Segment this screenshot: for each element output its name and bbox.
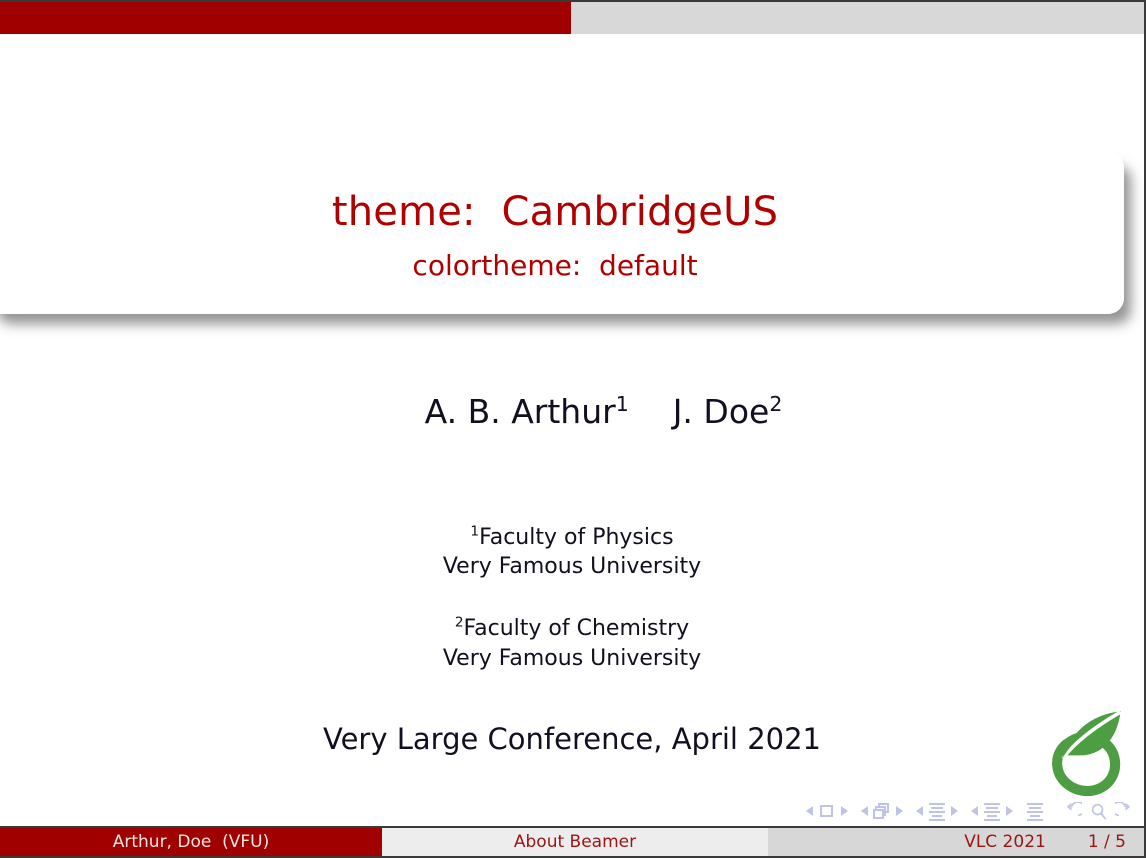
overleaf-logo (1036, 700, 1128, 796)
affiliation-1-institution: Very Famous University (0, 552, 1144, 582)
forward-icon[interactable] (1115, 802, 1134, 821)
affiliation-2: 2Faculty of Chemistry Very Famous Univer… (0, 614, 1144, 673)
footer-meta: VLC 2021 1 / 5 (768, 828, 1144, 856)
author-1-name: A. B. Arthur (425, 392, 616, 431)
beamer-slide: theme: CambridgeUS colortheme: default A… (0, 0, 1146, 858)
affiliation-2-mark: 2 (455, 615, 464, 631)
conference-date: Very Large Conference, April 2021 (0, 722, 1144, 756)
affiliation-2-department: Faculty of Chemistry (464, 616, 690, 641)
slide-navigation-group[interactable] (806, 803, 848, 819)
affiliation-2-department-line: 2Faculty of Chemistry (0, 614, 1144, 644)
affiliation-1-department-line: 1Faculty of Physics (0, 523, 1144, 553)
frame-deck-icon[interactable] (873, 803, 891, 819)
section-next-icon[interactable] (1006, 806, 1013, 816)
affiliation-2-institution: Very Famous University (0, 644, 1144, 674)
subsection-prev-icon[interactable] (916, 806, 923, 816)
slide-prev-icon[interactable] (806, 806, 813, 816)
frame-next-icon[interactable] (896, 806, 903, 816)
affiliation-1-mark: 1 (470, 523, 479, 539)
author-1-footnote-mark: 1 (616, 392, 629, 416)
slide-next-icon[interactable] (841, 806, 848, 816)
subsection-navigation-group[interactable] (916, 803, 958, 819)
beamer-navigation-symbols[interactable] (806, 798, 1134, 824)
affiliation-1-department: Faculty of Physics (479, 525, 673, 550)
header-bar-accent (0, 2, 571, 34)
affiliation-1: 1Faculty of Physics Very Famous Universi… (0, 523, 1144, 582)
footer-author: Arthur, Doe (VFU) (0, 828, 382, 856)
search-icon[interactable] (1089, 802, 1108, 821)
page-title: theme: CambridgeUS (332, 189, 778, 235)
frame-prev-icon[interactable] (861, 806, 868, 816)
title-page-body: A. B. Arthur1J. Doe2 1Faculty of Physics… (0, 352, 1144, 756)
footer-title: About Beamer (382, 828, 768, 856)
header-bar (0, 2, 1144, 34)
footer-page-number: 1 / 5 (1088, 832, 1126, 852)
back-icon[interactable] (1063, 802, 1082, 821)
footer-bar: Arthur, Doe (VFU) About Beamer VLC 2021 … (0, 826, 1144, 856)
footer-conference: VLC 2021 (964, 832, 1046, 852)
section-navigation-group[interactable] (971, 803, 1013, 819)
author-2-footnote-mark: 2 (769, 392, 782, 416)
subsection-next-icon[interactable] (951, 806, 958, 816)
page-subtitle: colortheme: default (412, 249, 697, 283)
section-prev-icon[interactable] (971, 806, 978, 816)
author-2-name: J. Doe (673, 392, 770, 431)
history-navigation-group[interactable] (1063, 802, 1134, 821)
title-block-surface: theme: CambridgeUS colortheme: default (0, 152, 1124, 314)
presentation-overview-group[interactable] (1026, 803, 1044, 819)
title-block: theme: CambridgeUS colortheme: default (0, 152, 1124, 314)
frame-navigation-group[interactable] (861, 803, 903, 819)
slide-current-icon[interactable] (818, 803, 836, 819)
author-list: A. B. Arthur1J. Doe2 (0, 352, 1144, 471)
subsection-current-icon[interactable] (928, 803, 946, 819)
section-current-icon[interactable] (983, 803, 1001, 819)
presentation-overview-icon[interactable] (1026, 803, 1044, 819)
